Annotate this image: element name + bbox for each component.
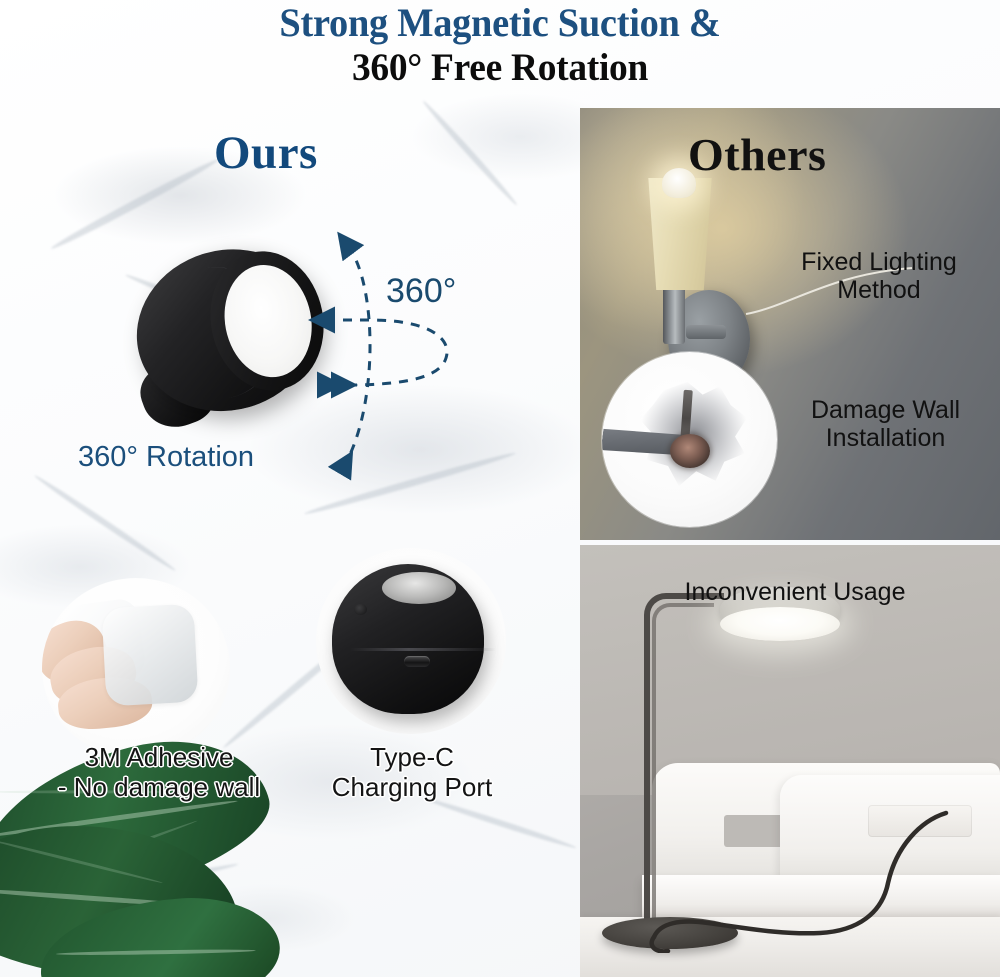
adhesive-caption-line-2: - No damage wall xyxy=(14,772,304,802)
power-button-icon xyxy=(354,604,367,615)
rotation-arrow-icon xyxy=(300,228,550,484)
others-label: Others xyxy=(688,128,826,181)
infographic-canvas: Strong Magnetic Suction & 360° Free Rota… xyxy=(0,0,1000,977)
rotation-caption: 360° Rotation xyxy=(78,441,254,473)
damage-wall-line-1: Damage Wall xyxy=(778,396,993,424)
headline-block: Strong Magnetic Suction & 360° Free Rota… xyxy=(0,0,1000,90)
typec-caption-line-1: Type-C xyxy=(312,742,512,772)
typec-caption: Type-C Charging Port xyxy=(312,742,512,802)
inconvenient-usage-caption: Inconvenient Usage xyxy=(630,578,960,606)
adhesive-pad-icon xyxy=(42,578,230,758)
rotation-degree-badge: 360° xyxy=(386,272,456,311)
usb-c-port-icon xyxy=(316,548,506,734)
fixed-lighting-caption: Fixed Lighting Method xyxy=(760,248,998,304)
headline-line-1: Strong Magnetic Suction & xyxy=(20,0,980,44)
adhesive-caption: 3M Adhesive - No damage wall xyxy=(14,742,304,802)
sconce-neck-icon xyxy=(663,286,685,344)
puck-light-reflector xyxy=(382,572,456,604)
fixed-lighting-line-1: Fixed Lighting xyxy=(760,248,998,276)
damage-wall-caption: Damage Wall Installation xyxy=(778,396,993,452)
power-cord-icon xyxy=(620,803,970,953)
fixed-lighting-line-2: Method xyxy=(760,276,998,304)
typec-caption-line-2: Charging Port xyxy=(312,772,512,802)
puck-light-rear-body xyxy=(332,564,484,714)
adhesive-caption-line-1: 3M Adhesive xyxy=(14,742,304,772)
damage-wall-line-2: Installation xyxy=(778,424,993,452)
damaged-wall-icon xyxy=(602,352,777,527)
headline-line-2: 360° Free Rotation xyxy=(20,46,980,90)
puck-light-seam xyxy=(350,648,496,651)
usb-c-connector xyxy=(404,656,430,667)
desk-lamp-glow-icon xyxy=(720,607,840,641)
ours-label: Ours xyxy=(214,126,318,180)
adhesive-pad-front xyxy=(101,604,198,707)
others-bottom-photo xyxy=(580,545,1000,977)
sconce-arm-icon xyxy=(686,325,726,339)
